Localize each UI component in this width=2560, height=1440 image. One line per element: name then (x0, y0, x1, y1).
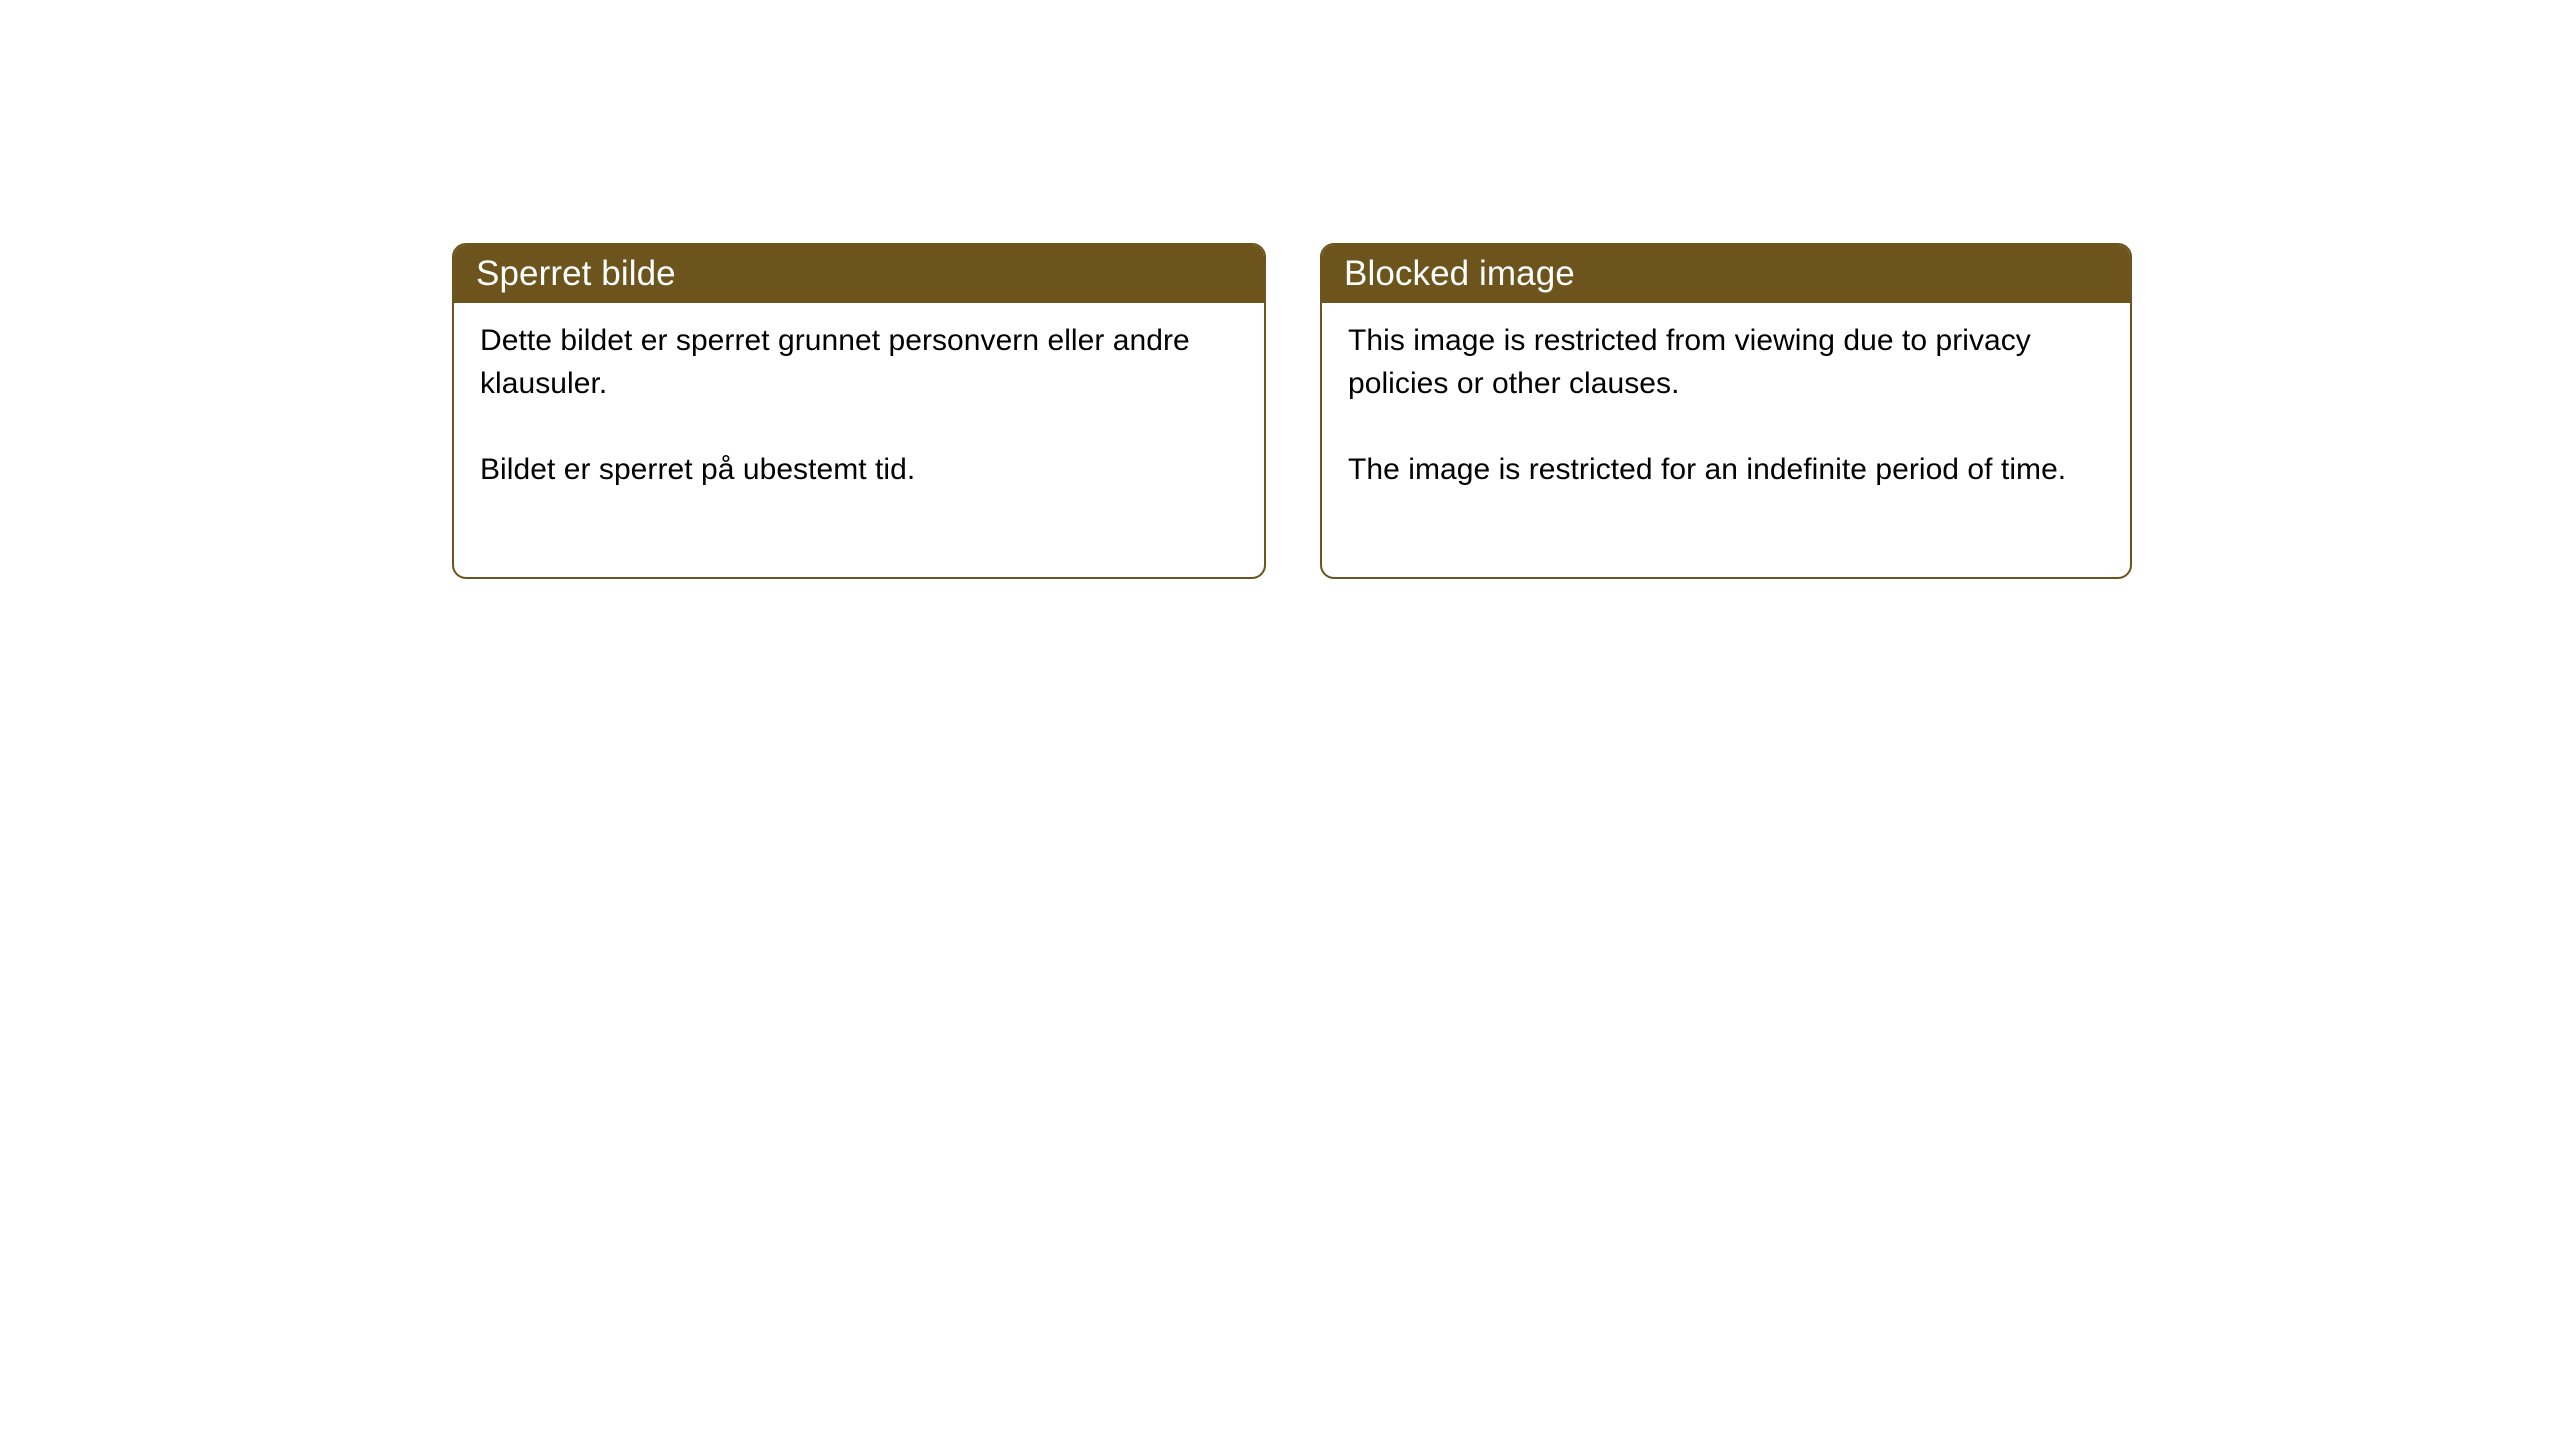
card-body-norwegian: Dette bildet er sperret grunnet personve… (454, 303, 1264, 491)
card-header-norwegian: Sperret bilde (452, 243, 1266, 303)
blocked-image-notice-card-english: Blocked image This image is restricted f… (1320, 243, 2132, 579)
card-body-english: This image is restricted from viewing du… (1322, 303, 2130, 491)
card-paragraph-duration-norwegian: Bildet er sperret på ubestemt tid. (480, 448, 1238, 491)
blocked-image-notice-card-norwegian: Sperret bilde Dette bildet er sperret gr… (452, 243, 1266, 579)
card-title-norwegian: Sperret bilde (476, 256, 676, 291)
card-paragraph-duration-english: The image is restricted for an indefinit… (1348, 448, 2104, 491)
card-paragraph-privacy-norwegian: Dette bildet er sperret grunnet personve… (480, 319, 1238, 405)
card-paragraph-privacy-english: This image is restricted from viewing du… (1348, 319, 2104, 405)
page-canvas: Sperret bilde Dette bildet er sperret gr… (0, 0, 2560, 1440)
card-title-english: Blocked image (1344, 256, 1575, 291)
paragraph-spacer (480, 405, 1238, 448)
card-header-english: Blocked image (1320, 243, 2132, 303)
paragraph-spacer (1348, 405, 2104, 448)
